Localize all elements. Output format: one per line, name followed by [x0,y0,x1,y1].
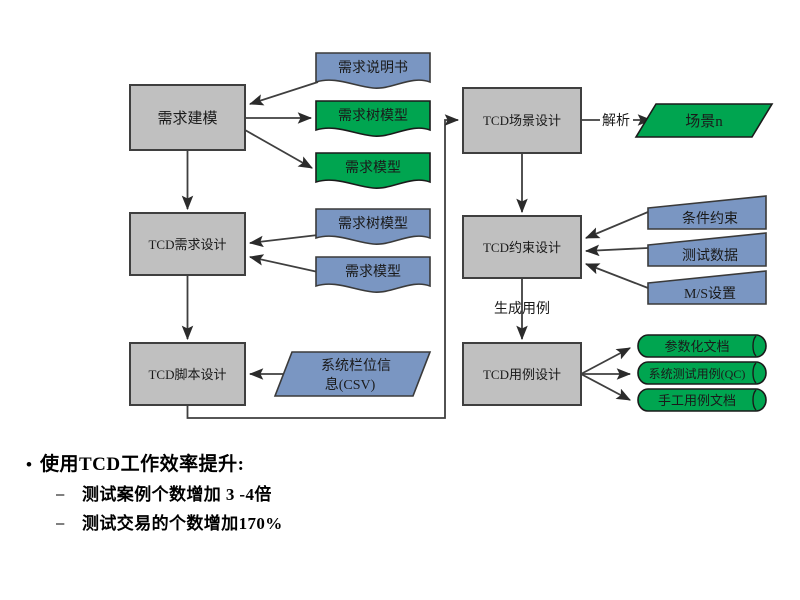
flag-shapes: 条件约束 测试数据 M/S设置 [648,196,766,304]
cylinder-label: 手工用例文档 [658,393,736,408]
edge-testdata-to-tcdconstraint [586,248,648,251]
data-label-line1: 场景n [685,113,723,130]
edge-reqspec-to-reqmodel [250,82,318,104]
flag-ms-settings[interactable]: M/S设置 [648,271,766,304]
process-flow-diagram: 需求建模 TCD需求设计 TCD脚本设计 TCD场景设计 TCD约束设计 TCD… [0,0,800,440]
doc-label: 需求模型 [345,264,401,280]
data-system-field-info-csv[interactable]: 系统栏位信 息(CSV) [275,352,430,396]
process-tcd-req-design[interactable]: TCD需求设计 [130,213,245,275]
summary-item-1: 测试案例个数增加 3 -4倍 [82,483,272,507]
cylinder-shapes: 参数化文档 系统测试用例(QC) 手工用例文档 [638,335,766,411]
flag-label: 条件约束 [682,210,738,227]
doc-label: 需求模型 [345,160,401,176]
edge-tcdcase-to-paramdoc [581,348,630,374]
summary-item-2: 测试交易的个数增加170% [82,512,283,536]
edge-label-parse: 解析 [602,113,630,129]
summary-item-row: – 测试交易的个数增加170% [56,512,800,536]
process-tcd-case-design[interactable]: TCD用例设计 [463,343,581,405]
summary-heading: 使用TCD工作效率提升: [40,452,244,478]
flag-label: M/S设置 [684,286,736,302]
cylinder-manual-case-doc[interactable]: 手工用例文档 [638,389,766,411]
edge-condition-to-tcdconstraint [586,212,648,238]
cylinder-label: 参数化文档 [664,339,729,354]
summary-item-row: – 测试案例个数增加 3 -4倍 [56,483,800,507]
cylinder-system-test-case-qc[interactable]: 系统测试用例(QC) [638,362,766,384]
data-label-line1: 系统栏位信 [321,358,391,374]
process-label: TCD场景设计 [483,113,561,128]
process-label: TCD约束设计 [483,240,561,255]
process-label: TCD脚本设计 [148,367,226,382]
doc-req-spec[interactable]: 需求说明书 [316,53,430,88]
process-label: TCD用例设计 [483,367,561,382]
process-label: TCD需求设计 [148,237,226,252]
doc-label: 需求树模型 [338,108,408,124]
doc-req-tree-model-1[interactable]: 需求树模型 [316,101,430,136]
process-label: 需求建模 [157,110,217,127]
dash-marker-icon: – [56,483,82,507]
bullet-marker-icon: • [18,452,40,478]
edge-reqmodel-to-reqmodeldoc1 [245,130,312,168]
slide-canvas: 需求建模 TCD需求设计 TCD脚本设计 TCD场景设计 TCD约束设计 TCD… [0,0,800,600]
process-tcd-script-design[interactable]: TCD脚本设计 [130,343,245,405]
summary-bullets: • 使用TCD工作效率提升: – 测试案例个数增加 3 -4倍 – 测试交易的个… [0,440,800,536]
edge-label-generate-case: 生成用例 [494,301,550,317]
cylinder-parameterized-doc[interactable]: 参数化文档 [638,335,766,357]
cylinder-label: 系统测试用例(QC) [649,366,746,381]
doc-req-model-2[interactable]: 需求模型 [316,257,430,292]
doc-req-model-1[interactable]: 需求模型 [316,153,430,188]
doc-label: 需求说明书 [338,60,408,76]
doc-req-tree-model-2[interactable]: 需求树模型 [316,209,430,244]
summary-heading-row: • 使用TCD工作效率提升: [18,452,800,478]
flag-test-data[interactable]: 测试数据 [648,233,766,266]
data-label-line2: 息(CSV) [325,376,376,393]
edge-reqmodeldoc2-to-tcdreq [250,257,318,272]
process-tcd-scene-design[interactable]: TCD场景设计 [463,88,581,153]
dash-marker-icon: – [56,512,82,536]
process-tcd-constraint-design[interactable]: TCD约束设计 [463,216,581,278]
edge-mssettings-to-tcdconstraint [586,264,648,288]
doc-label: 需求树模型 [338,216,408,232]
process-req-modeling[interactable]: 需求建模 [130,85,245,150]
document-shapes: 需求说明书 需求树模型 需求模型 需求树模型 需求模型 [316,53,430,292]
edge-tcdcase-to-manualcasedoc [581,374,630,400]
data-scene-n[interactable]: 场景n [636,104,772,137]
flag-label: 测试数据 [682,248,738,264]
flag-condition-constraint[interactable]: 条件约束 [648,196,766,229]
edge-reqtree2-to-tcdreq [250,235,318,243]
